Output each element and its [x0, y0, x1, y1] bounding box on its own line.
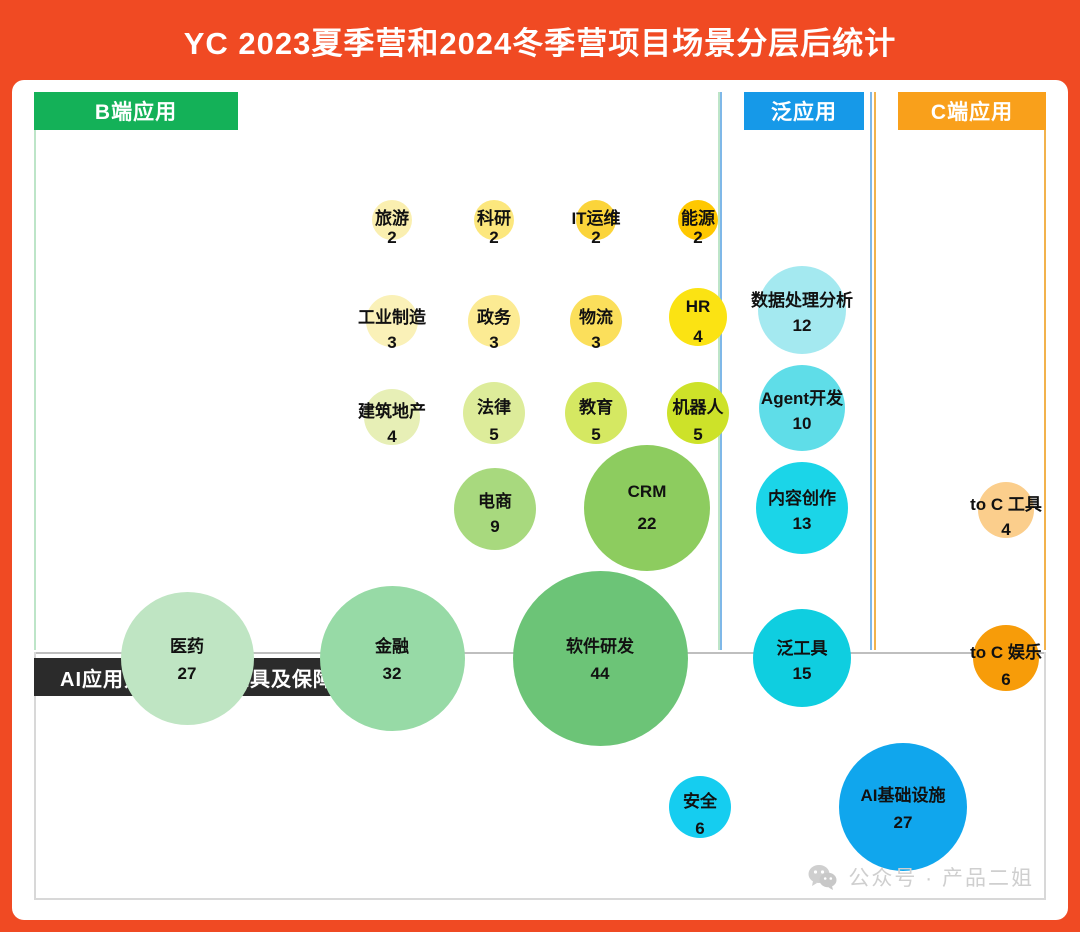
bubble-label: 旅游	[375, 204, 409, 229]
bubble-旅游: 旅游2	[372, 200, 412, 240]
bubble-value: 27	[178, 664, 197, 684]
bubble-建筑地产: 建筑地产4	[364, 389, 420, 445]
bubble-label: 泛工具	[777, 634, 828, 659]
bubble-label: 数据处理分析	[751, 286, 853, 311]
wechat-icon	[808, 864, 838, 890]
bubble-value: 6	[695, 819, 704, 839]
bubble-label: 科研	[477, 204, 511, 229]
bubble-医药: 医药27	[121, 592, 254, 725]
bubble-value: 4	[387, 427, 396, 447]
bubble-value: 2	[489, 228, 498, 248]
bubble-value: 6	[1001, 670, 1010, 690]
bubble-label: to C 娱乐	[970, 638, 1042, 663]
bubble-value: 2	[693, 228, 702, 248]
bubble-label: 金融	[375, 632, 409, 657]
bubble-数据处理分析: 数据处理分析12	[758, 266, 846, 354]
bubble-value: 32	[383, 664, 402, 684]
panel-b-side	[34, 92, 720, 650]
panel-c-side	[874, 92, 1046, 650]
panel-header-c-side: C端应用	[898, 92, 1046, 130]
bubble-AI基础设施: AI基础设施27	[839, 743, 967, 871]
bubble-label: 工业制造	[358, 303, 426, 328]
bubble-label: HR	[686, 297, 711, 317]
bubble-value: 4	[1001, 520, 1010, 540]
bubble-label: CRM	[628, 482, 667, 502]
bubble-chart-page: YC 2023夏季营和2024冬季营项目场景分层后统计 B端应用 泛应用 C端应…	[0, 0, 1080, 932]
watermark-text: 公众号 · 产品二姐	[848, 862, 1034, 892]
page-title: YC 2023夏季营和2024冬季营项目场景分层后统计	[184, 18, 897, 63]
bubble-label: to C 工具	[970, 490, 1042, 515]
bubble-软件研发: 软件研发44	[513, 571, 688, 746]
bubble-label: 能源	[681, 204, 715, 229]
bubble-value: 22	[638, 514, 657, 534]
bubble-安全: 安全6	[669, 776, 731, 838]
bubble-value: 27	[894, 813, 913, 833]
chart-card: B端应用 泛应用 C端应用 AI应用开发的基础工具及保障 旅游2科研2IT运维2…	[12, 80, 1068, 920]
title-bar: YC 2023夏季营和2024冬季营项目场景分层后统计	[0, 0, 1080, 80]
bubble-label: 政务	[477, 303, 511, 328]
bubble-value: 15	[793, 664, 812, 684]
bubble-泛工具: 泛工具15	[753, 609, 851, 707]
bubble-物流: 物流3	[570, 295, 622, 347]
panel-header-b-side: B端应用	[34, 92, 238, 130]
bubble-value: 4	[693, 327, 702, 347]
bubble-label: 电商	[478, 487, 512, 512]
bubble-value: 10	[793, 414, 812, 434]
bubble-value: 5	[489, 425, 498, 445]
bubble-Agent开发: Agent开发10	[759, 365, 845, 451]
bubble-内容创作: 内容创作13	[756, 462, 848, 554]
bubble-to C 工具: to C 工具4	[978, 482, 1034, 538]
bubble-value: 5	[693, 425, 702, 445]
panel-header-pan-app: 泛应用	[744, 92, 864, 130]
bubble-金融: 金融32	[320, 586, 465, 731]
bubble-政务: 政务3	[468, 295, 520, 347]
bubble-label: 医药	[170, 632, 204, 657]
bubble-CRM: CRM22	[584, 445, 710, 571]
bubble-电商: 电商9	[454, 468, 536, 550]
bubble-value: 3	[591, 333, 600, 353]
bubble-value: 5	[591, 425, 600, 445]
bubble-label: 机器人	[673, 393, 724, 418]
bubble-label: 安全	[683, 787, 717, 812]
bubble-label: IT运维	[571, 204, 620, 229]
bubble-value: 44	[591, 664, 610, 684]
bubble-value: 3	[489, 333, 498, 353]
bubble-value: 9	[490, 517, 499, 537]
bubble-IT运维: IT运维2	[576, 200, 616, 240]
bubble-科研: 科研2	[474, 200, 514, 240]
bubble-工业制造: 工业制造3	[366, 295, 418, 347]
bubble-label: 内容创作	[768, 484, 836, 509]
bubble-机器人: 机器人5	[667, 382, 729, 444]
bubble-label: Agent开发	[761, 384, 843, 409]
bubble-label: 物流	[579, 303, 613, 328]
bubble-教育: 教育5	[565, 382, 627, 444]
bubble-label: 教育	[579, 393, 613, 418]
bubble-能源: 能源2	[678, 200, 718, 240]
bubble-label: 建筑地产	[358, 397, 426, 422]
bubble-to C 娱乐: to C 娱乐6	[973, 625, 1039, 691]
bubble-value: 2	[591, 228, 600, 248]
watermark: 公众号 · 产品二姐	[808, 862, 1034, 892]
bubble-法律: 法律5	[463, 382, 525, 444]
bubble-value: 3	[387, 333, 396, 353]
bubble-HR: HR4	[669, 288, 727, 346]
bubble-value: 13	[793, 514, 812, 534]
bubble-label: 软件研发	[566, 632, 634, 657]
bubble-value: 2	[387, 228, 396, 248]
bubble-label: AI基础设施	[861, 781, 946, 806]
bubble-label: 法律	[477, 393, 511, 418]
bubble-value: 12	[793, 316, 812, 336]
